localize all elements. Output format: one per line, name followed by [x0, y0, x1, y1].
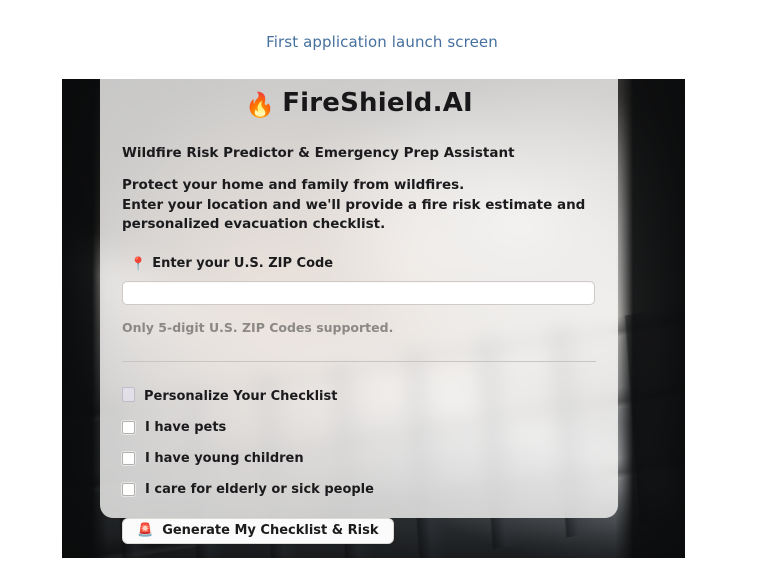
checkbox-elderly[interactable] [122, 483, 135, 496]
checkbox-children[interactable] [122, 452, 135, 465]
app-description: Protect your home and family from wildfi… [122, 176, 596, 235]
checkbox-row-children[interactable]: I have young children [122, 451, 596, 466]
app-screenshot: 🔥FireShield.AI Wildfire Risk Predictor &… [62, 79, 685, 558]
app-title: 🔥FireShield.AI [122, 79, 596, 119]
zip-help-text: Only 5-digit U.S. ZIP Codes supported. [122, 320, 596, 335]
checkbox-row-elderly[interactable]: I care for elderly or sick people [122, 482, 596, 497]
generate-button-label: Generate My Checklist & Risk [162, 523, 378, 538]
zip-input[interactable] [122, 281, 595, 305]
checkbox-label-elderly: I care for elderly or sick people [145, 482, 374, 497]
siren-icon: 🚨 [137, 523, 153, 538]
zip-field-group: 📍Enter your U.S. ZIP Code Only 5-digit U… [122, 256, 596, 335]
map-pin-icon: 📍 [130, 257, 146, 272]
checkbox-label-pets: I have pets [145, 420, 226, 435]
description-line-1: Protect your home and family from wildfi… [122, 177, 464, 193]
figure-caption: First application launch screen [0, 33, 764, 51]
personalize-title: Personalize Your Checklist [122, 387, 596, 404]
app-name: FireShield.AI [282, 88, 473, 118]
personalize-section: Personalize Your Checklist I have pets I… [122, 387, 596, 544]
app-tagline: Wildfire Risk Predictor & Emergency Prep… [122, 145, 596, 161]
clipboard-icon [122, 387, 135, 402]
flame-icon: 🔥 [245, 91, 275, 119]
checkbox-label-children: I have young children [145, 451, 304, 466]
section-divider [122, 361, 596, 362]
generate-checklist-button[interactable]: 🚨Generate My Checklist & Risk [122, 518, 394, 544]
zip-label: 📍Enter your U.S. ZIP Code [132, 256, 596, 272]
personalize-title-text: Personalize Your Checklist [144, 389, 337, 404]
app-card: 🔥FireShield.AI Wildfire Risk Predictor &… [100, 79, 618, 518]
zip-label-text: Enter your U.S. ZIP Code [152, 256, 333, 271]
checkbox-pets[interactable] [122, 421, 135, 434]
description-line-2: Enter your location and we'll provide a … [122, 196, 596, 235]
checkbox-row-pets[interactable]: I have pets [122, 420, 596, 435]
